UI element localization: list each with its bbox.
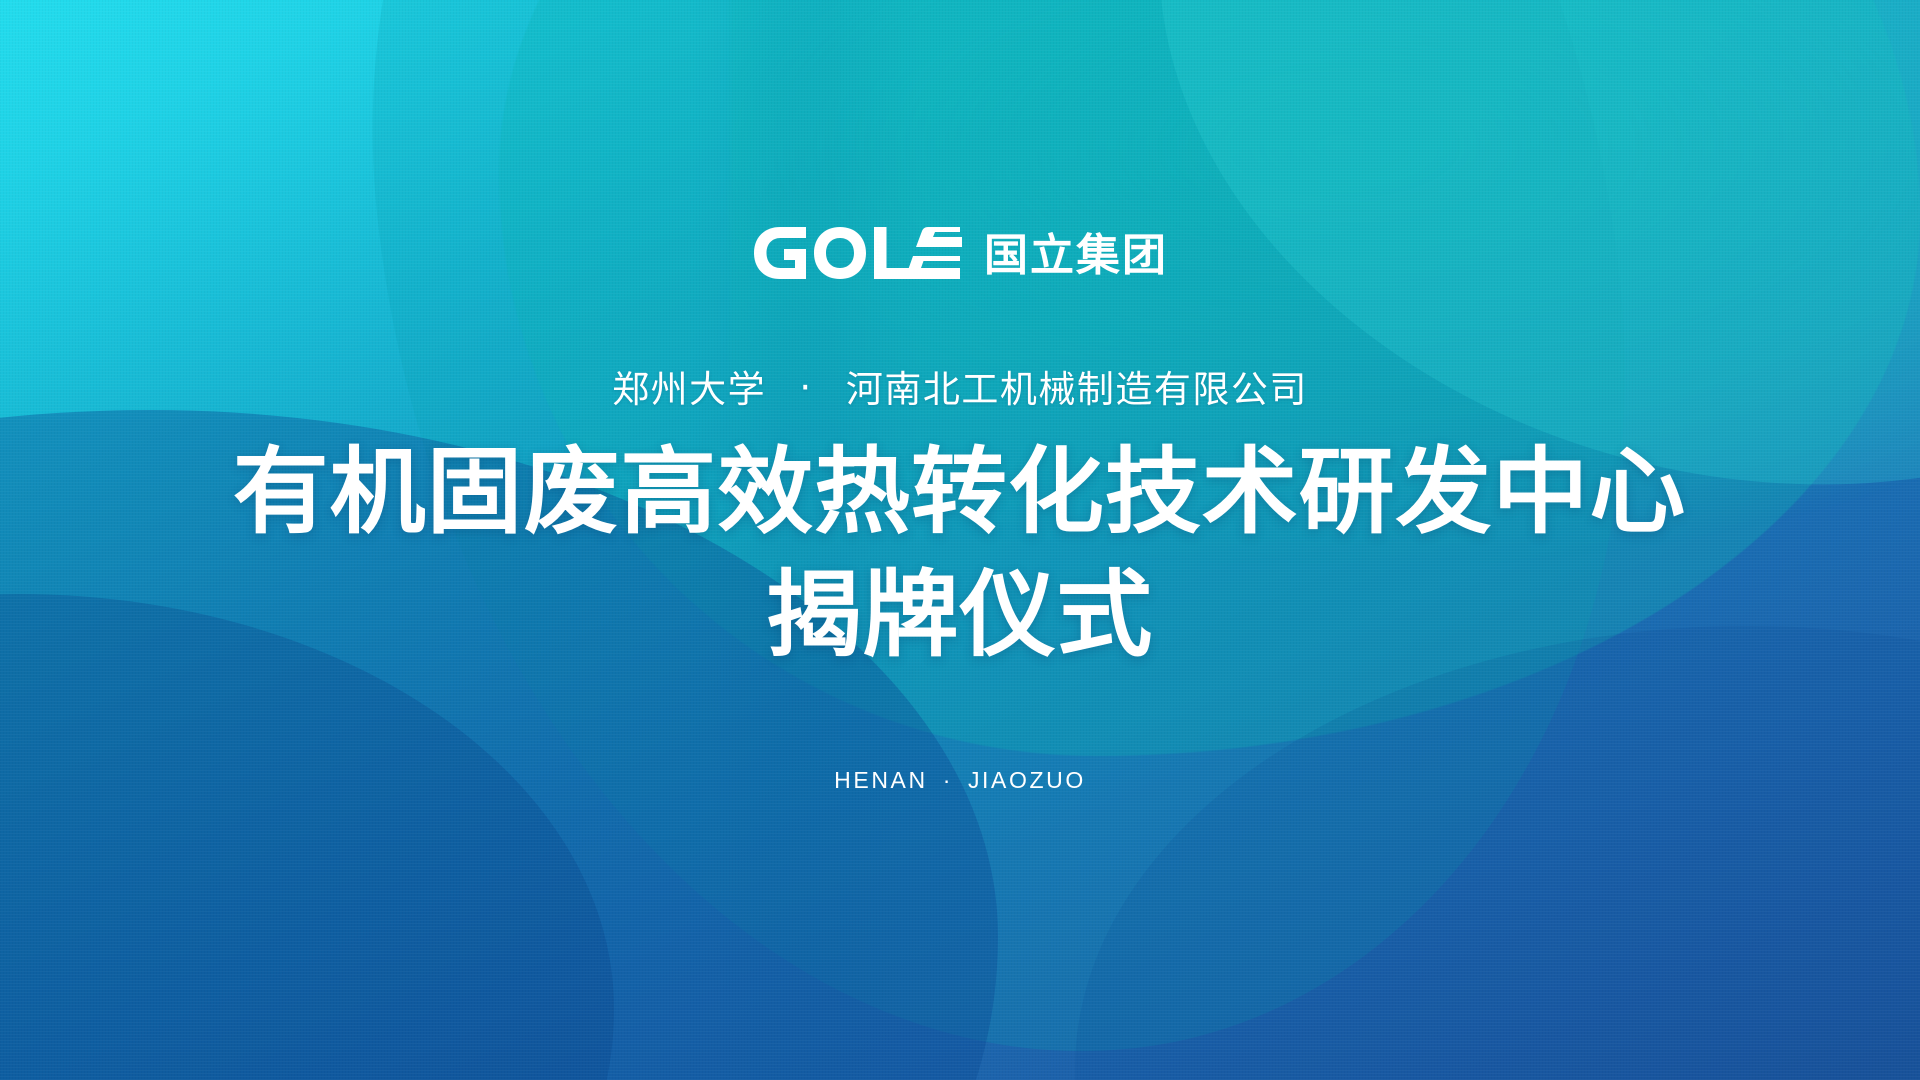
- organization-left: 郑州大学: [612, 368, 766, 411]
- ceremony-banner-slide: 国立集团 郑州大学 · 河南北工机械制造有限公司 有机固废高效热转化技术研发中心…: [0, 0, 1920, 1080]
- location-label: HENAN · JIAOZUO: [834, 769, 1086, 792]
- page-title-line-2: 揭牌仪式: [233, 555, 1687, 677]
- slide-content: 国立集团 郑州大学 · 河南北工机械制造有限公司 有机固废高效热转化技术研发中心…: [0, 0, 1920, 1080]
- location-city: JIAOZUO: [968, 767, 1086, 793]
- page-title: 有机固废高效热转化技术研发中心 揭牌仪式: [247, 436, 1672, 677]
- brand-chinese-name: 国立集团: [984, 234, 1168, 278]
- organization-right: 河南北工机械制造有限公司: [846, 368, 1308, 411]
- location-separator: ·: [937, 769, 959, 792]
- gole-wordmark-icon: [752, 227, 962, 284]
- organizations-separator: ·: [779, 366, 832, 410]
- organizations-line: 郑州大学 · 河南北工机械制造有限公司: [612, 368, 1308, 412]
- location-province: HENAN: [834, 767, 928, 793]
- page-title-line-1: 有机固废高效热转化技术研发中心: [233, 436, 1687, 551]
- brand-logo-lockup: 国立集团: [752, 228, 1168, 282]
